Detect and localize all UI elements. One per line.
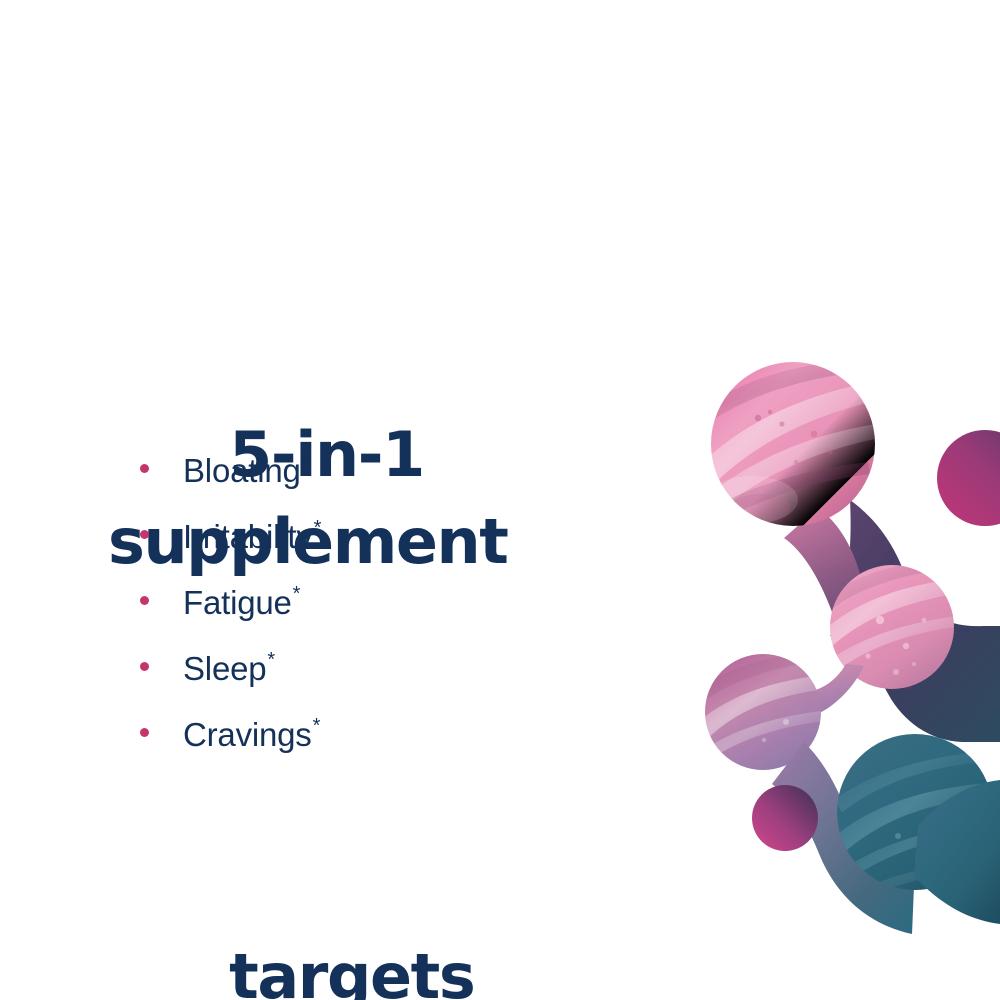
- footnote-asterisk: *: [293, 583, 301, 605]
- list-item: Cravings*: [140, 716, 321, 782]
- molecule-sphere-teal: [830, 734, 1000, 908]
- footnote-asterisk: *: [313, 715, 321, 737]
- bullet-dot-icon: [140, 596, 149, 605]
- list-item: Irritability*: [140, 518, 321, 584]
- molecule-dark-linker: [830, 500, 1000, 742]
- molecule-sphere-mid: [818, 558, 966, 689]
- bullet-dot-icon: [140, 728, 149, 737]
- promo-graphic-canvas: 5-in-1 supplement targets hormonal sympt…: [0, 0, 1000, 1000]
- footnote-asterisk: *: [302, 451, 310, 473]
- list-item-label: Bloating*: [183, 452, 309, 490]
- symptom-list: Bloating* Irritability* Fatigue* Sleep* …: [140, 452, 321, 782]
- list-item-label: Fatigue*: [183, 584, 300, 622]
- bullet-dot-icon: [140, 530, 149, 539]
- list-item-text: Sleep: [183, 650, 266, 687]
- footnote-asterisk: *: [314, 517, 322, 539]
- list-item-text: Cravings: [183, 716, 312, 753]
- list-item: Sleep*: [140, 650, 321, 716]
- molecule-sphere-small-right: [937, 430, 1000, 526]
- list-item: Fatigue*: [140, 584, 321, 650]
- list-item-label: Cravings*: [183, 716, 320, 754]
- list-item: Bloating*: [140, 452, 321, 518]
- list-item-text: Irritability: [183, 518, 313, 555]
- list-item-text: Bloating: [183, 452, 301, 489]
- molecule-teal-extension: [914, 780, 1000, 924]
- list-item-label: Sleep*: [183, 650, 275, 688]
- list-item-label: Irritability*: [183, 518, 321, 556]
- headline-line-2: targets hormonal: [108, 846, 808, 1000]
- bullet-dot-icon: [140, 662, 149, 671]
- footnote-asterisk: *: [267, 649, 275, 671]
- list-item-text: Fatigue: [183, 584, 292, 621]
- headline-line-2-navy-text: targets: [229, 940, 494, 1000]
- bullet-dot-icon: [140, 464, 149, 473]
